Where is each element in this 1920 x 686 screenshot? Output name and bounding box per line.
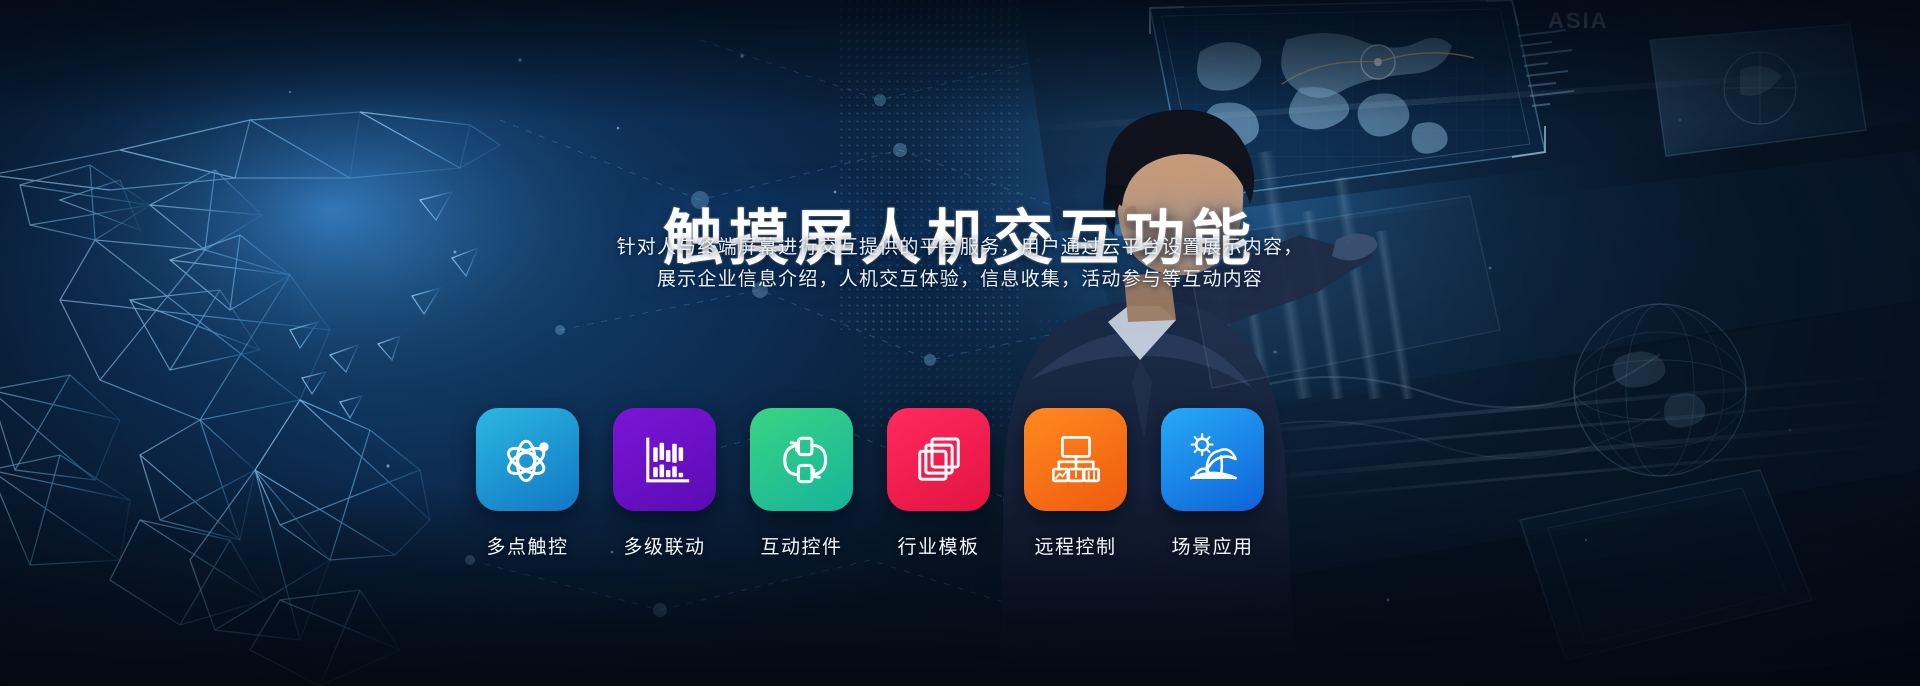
feature-item-multitouch[interactable]: 多点触控 (476, 408, 579, 559)
stacked-cards-icon (911, 432, 967, 488)
beach-scene-icon (1184, 431, 1242, 489)
feature-item-interactive-widgets[interactable]: 互动控件 (750, 408, 853, 559)
feature-tile[interactable] (476, 408, 579, 511)
feature-tile[interactable] (750, 408, 853, 511)
feature-list: 多点触控 (476, 408, 1264, 559)
sync-widgets-icon (773, 431, 831, 489)
banner-content: 触摸屏人机交互功能 针对人与终端屏幕进行交互提供的平台服务，用户通过云平台设置展… (0, 0, 1920, 686)
feature-item-scene-application[interactable]: 场景应用 (1161, 408, 1264, 559)
monitor-network-icon (1047, 431, 1105, 489)
subtitle-line-1: 针对人与终端屏幕进行交互提供的平台服务，用户通过云平台设置展示内容， (0, 232, 1920, 264)
feature-label: 互动控件 (760, 532, 842, 559)
feature-tile[interactable] (1161, 408, 1264, 511)
feature-label: 行业模板 (897, 532, 979, 559)
feature-item-industry-templates[interactable]: 行业模板 (887, 408, 990, 559)
feature-tile[interactable] (1024, 408, 1127, 511)
subtitle-line-2: 展示企业信息介绍，人机交互体验，信息收集，活动参与等互动内容 (0, 264, 1920, 296)
feature-label: 多点触控 (486, 532, 568, 559)
feature-tile[interactable] (887, 408, 990, 511)
feature-label: 远程控制 (1034, 532, 1116, 559)
feature-item-remote-control[interactable]: 远程控制 (1024, 408, 1127, 559)
feature-label: 场景应用 (1171, 532, 1253, 559)
atom-icon (498, 430, 558, 490)
bar-chart-icon (636, 431, 694, 489)
feature-label: 多级联动 (623, 532, 705, 559)
banner-subtitle: 针对人与终端屏幕进行交互提供的平台服务，用户通过云平台设置展示内容， 展示企业信… (0, 232, 1920, 296)
feature-tile[interactable] (613, 408, 716, 511)
feature-item-multilevel-linkage[interactable]: 多级联动 (613, 408, 716, 559)
hero-banner: ASIA (0, 0, 1920, 686)
